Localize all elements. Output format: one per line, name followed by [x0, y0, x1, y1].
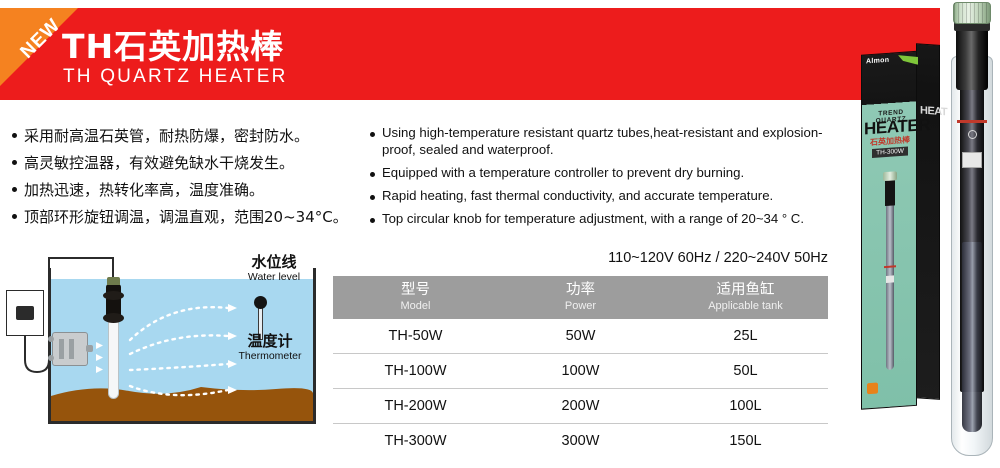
retail-box-front: Almon TREND QUARTZ HEATER 石英加热棒 TH-300W [861, 51, 917, 410]
product-photo: HEAT Almon TREND QUARTZ HEATER 石英加热棒 TH-… [855, 0, 1000, 468]
indicator-light-icon [968, 130, 977, 139]
rod-label-plate [962, 152, 982, 168]
heater-knob [107, 277, 120, 285]
heater-ring-upper [103, 291, 124, 300]
pump-detail [69, 339, 74, 359]
thermometer-bulb [254, 296, 267, 309]
thermometer-label: 温度计 Thermometer [218, 332, 322, 363]
box-model-label: TH-300W [872, 146, 908, 158]
feature-item: 顶部环形旋钮调温，调温直观，范围20~34°C。 [10, 205, 360, 229]
cell-model: TH-200W [333, 389, 498, 424]
feature-list-en: Using high-temperature resistant quartz … [368, 124, 848, 233]
temperature-adjust-knob [953, 2, 991, 24]
heater-rod-illustration [101, 277, 125, 399]
heating-element-lower [962, 242, 982, 432]
thermometer-label-cn: 温度计 [218, 332, 322, 350]
retail-box: HEAT Almon TREND QUARTZ HEATER 石英加热棒 TH-… [861, 49, 939, 409]
swoosh-icon [898, 54, 918, 66]
water-level-label-cn: 水位线 [222, 253, 326, 271]
aquarium-diagram: 水位线 Water level 温度计 Thermometer [0, 250, 330, 445]
table-row: TH-100W 100W 50L [333, 354, 828, 389]
box-product-tube [886, 203, 894, 370]
box-heading-cn: 石英加热棒 [864, 134, 916, 149]
table-row: TH-200W 200W 100L [333, 389, 828, 424]
cell-model: TH-100W [333, 354, 498, 389]
table-header-row: 型号 Model 功率 Power 适用鱼缸 Applicable tank [333, 276, 828, 319]
feature-item: 采用耐高温石英管，耐热防爆，密封防水。 [10, 124, 360, 148]
knob-ridges [954, 3, 990, 23]
retail-box-side: HEAT [916, 43, 940, 400]
heater-ring-lower [103, 313, 124, 323]
box-footer-logo [867, 383, 878, 395]
voltage-rating: 110~120V 60Hz / 220~240V 50Hz [333, 250, 828, 266]
feature-item: Top circular knob for temperature adjust… [368, 210, 848, 227]
box-product-body [885, 179, 895, 206]
box-product-band [884, 265, 896, 268]
thermometer-label-en: Thermometer [218, 350, 322, 363]
cell-tank: 25L [663, 319, 828, 354]
specification-table: 型号 Model 功率 Power 适用鱼缸 Applicable tank T… [333, 276, 828, 458]
feature-list-cn: 采用耐高温石英管，耐热防爆，密封防水。 高灵敏控温器，有效避免缺水干烧发生。 加… [10, 124, 360, 232]
pump-outlet [86, 345, 93, 352]
rod-head-body [956, 28, 988, 90]
cell-model: TH-50W [333, 319, 498, 354]
feature-item: Equipped with a temperature controller t… [368, 164, 848, 181]
feature-item: 加热迅速，热转化率高，温度准确。 [10, 178, 360, 202]
feature-item: Rapid heating, fast thermal conductivity… [368, 187, 848, 204]
water-level-label-en: Water level [222, 271, 326, 284]
column-header-model: 型号 Model [333, 276, 498, 319]
product-title-cn: TH石英加热棒 [62, 20, 284, 68]
table-row: TH-50W 50W 25L [333, 319, 828, 354]
column-header-power: 功率 Power [498, 276, 663, 319]
table-row: TH-300W 300W 150L [333, 424, 828, 459]
column-header-tank: 适用鱼缸 Applicable tank [663, 276, 828, 319]
brand-logo: Almon [866, 57, 889, 66]
cell-model: TH-300W [333, 424, 498, 459]
cell-power: 100W [498, 354, 663, 389]
water-pump [52, 332, 88, 366]
cell-power: 50W [498, 319, 663, 354]
water-level-label: 水位线 Water level [222, 253, 326, 284]
box-product-plate [886, 275, 894, 283]
cell-power: 300W [498, 424, 663, 459]
feature-item: Using high-temperature resistant quartz … [368, 124, 848, 158]
box-product-image [882, 171, 898, 372]
temperature-indicator-band [957, 120, 987, 123]
pump-mount [48, 355, 54, 361]
pump-detail [59, 339, 64, 359]
product-title-en: TH QUARTZ HEATER [63, 66, 288, 88]
box-product-knob [883, 171, 897, 181]
feature-item: 高灵敏控温器，有效避免缺水干烧发生。 [10, 151, 360, 175]
cell-tank: 100L [663, 389, 828, 424]
pump-mount [48, 336, 54, 342]
header-banner: NEW TH石英加热棒 TH QUARTZ HEATER [0, 8, 940, 100]
heater-glass-tube [108, 321, 119, 399]
cell-tank: 50L [663, 354, 828, 389]
heater-product-rod [948, 2, 996, 457]
power-plug-icon [16, 306, 34, 320]
cell-tank: 150L [663, 424, 828, 459]
cell-power: 200W [498, 389, 663, 424]
